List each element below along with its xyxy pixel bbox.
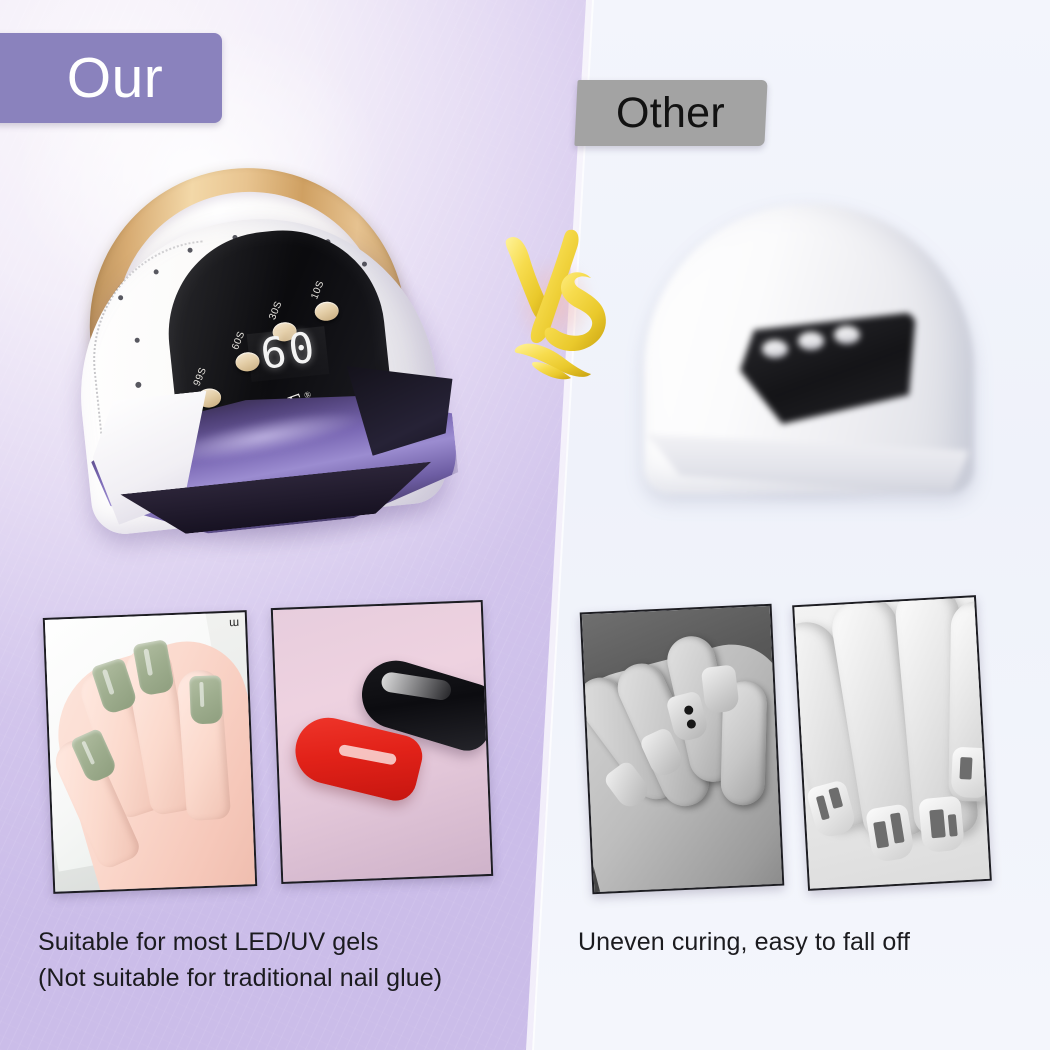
right-caption: Uneven curing, easy to fall off — [578, 925, 1008, 961]
photo-red-black-gel-swatches — [271, 600, 493, 884]
photo-peeling-nails-closeup — [792, 595, 992, 891]
nail-chip — [929, 809, 945, 838]
photo-damaged-nails-closeup — [580, 604, 785, 894]
nail-chip — [816, 795, 830, 820]
photo-gray2-content — [794, 597, 989, 889]
nail-chip — [959, 757, 972, 780]
nail-chip — [890, 812, 905, 843]
left-caption: Suitable for most LED/UV gels (Not suita… — [38, 925, 508, 996]
other-badge-label: Other — [616, 92, 725, 135]
peeling-nail — [918, 796, 965, 854]
comparison-graphic: Our Other 99S 60S 30S 10S — [0, 0, 1050, 1050]
photo-gray1-content — [582, 606, 782, 892]
other-lamp-button — [762, 340, 788, 358]
photo-redblack-content — [273, 602, 491, 882]
green-nail — [189, 675, 223, 724]
nail-chip — [873, 821, 889, 849]
other-lamp-button — [798, 332, 824, 350]
photo-watermark: m — [229, 616, 240, 630]
other-nail-lamp-product — [628, 200, 988, 520]
damaged-nail — [701, 664, 740, 714]
photo-green-content: m — [45, 612, 255, 891]
nail-chip — [828, 787, 843, 809]
versus-brush-icon — [495, 222, 615, 402]
our-badge-label: Our — [53, 50, 164, 107]
timer-display-value: 60 — [257, 322, 321, 379]
peeling-nail — [865, 803, 915, 863]
our-nail-lamp-product: 99S 60S 30S 10S 60 L.K.E® S2PRO Nail Lam… — [40, 139, 501, 591]
other-badge: Other — [574, 80, 767, 146]
nail-chip — [948, 814, 958, 837]
photo-green-gel-nails: m — [43, 610, 257, 894]
versus-mark — [495, 222, 615, 402]
other-lamp-button — [834, 326, 860, 344]
our-badge: Our — [0, 33, 222, 123]
